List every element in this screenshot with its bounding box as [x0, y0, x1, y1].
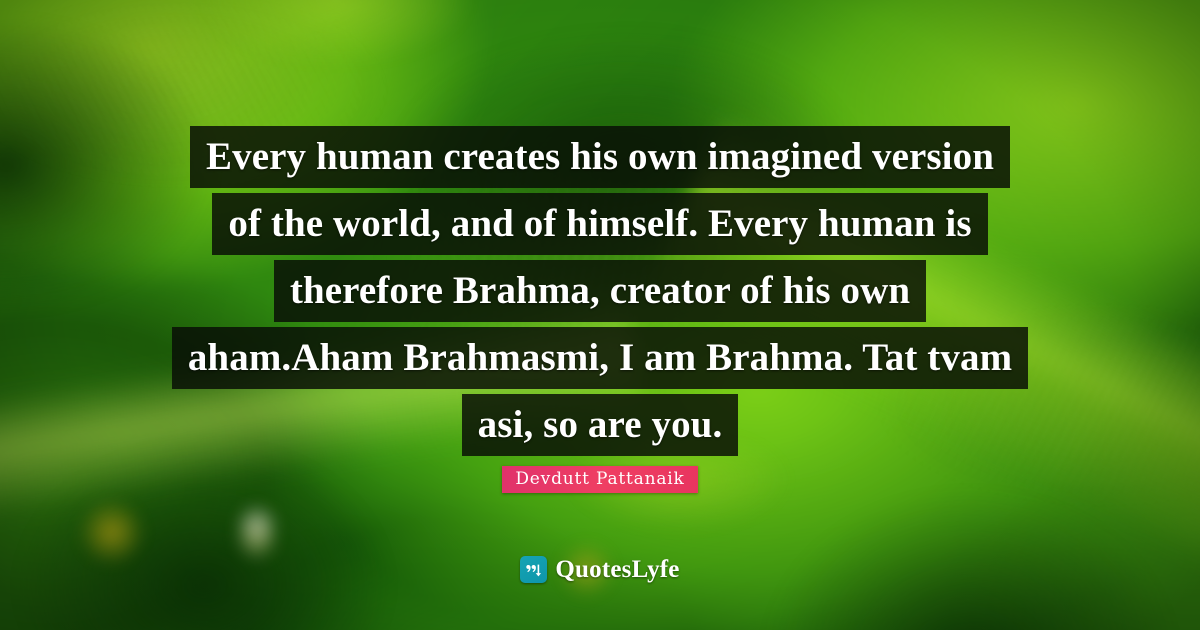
- quote-line-text: therefore Brahma, creator of his own: [274, 260, 926, 322]
- quote-line: therefore Brahma, creator of his own: [0, 260, 1200, 322]
- quote-text-block: Every human creates his own imagined ver…: [0, 126, 1200, 461]
- quote-line-text: Every human creates his own imagined ver…: [190, 126, 1010, 188]
- author-attribution: Devdutt Pattanaik: [0, 466, 1200, 493]
- quote-card: Every human creates his own imagined ver…: [0, 0, 1200, 630]
- quote-line: asi, so are you.: [0, 394, 1200, 456]
- quote-line-text: of the world, and of himself. Every huma…: [212, 193, 987, 255]
- author-name-badge[interactable]: Devdutt Pattanaik: [502, 466, 697, 493]
- brand-logo[interactable]: QuotesLyfe: [0, 556, 1200, 583]
- quote-line: of the world, and of himself. Every huma…: [0, 193, 1200, 255]
- quote-line-text: aham.Aham Brahmasmi, I am Brahma. Tat tv…: [172, 327, 1028, 389]
- quote-mark-icon: [520, 556, 547, 583]
- quote-line: Every human creates his own imagined ver…: [0, 126, 1200, 188]
- quote-line-text: asi, so are you.: [462, 394, 739, 456]
- quote-line: aham.Aham Brahmasmi, I am Brahma. Tat tv…: [0, 327, 1200, 389]
- brand-name: QuotesLyfe: [555, 556, 679, 583]
